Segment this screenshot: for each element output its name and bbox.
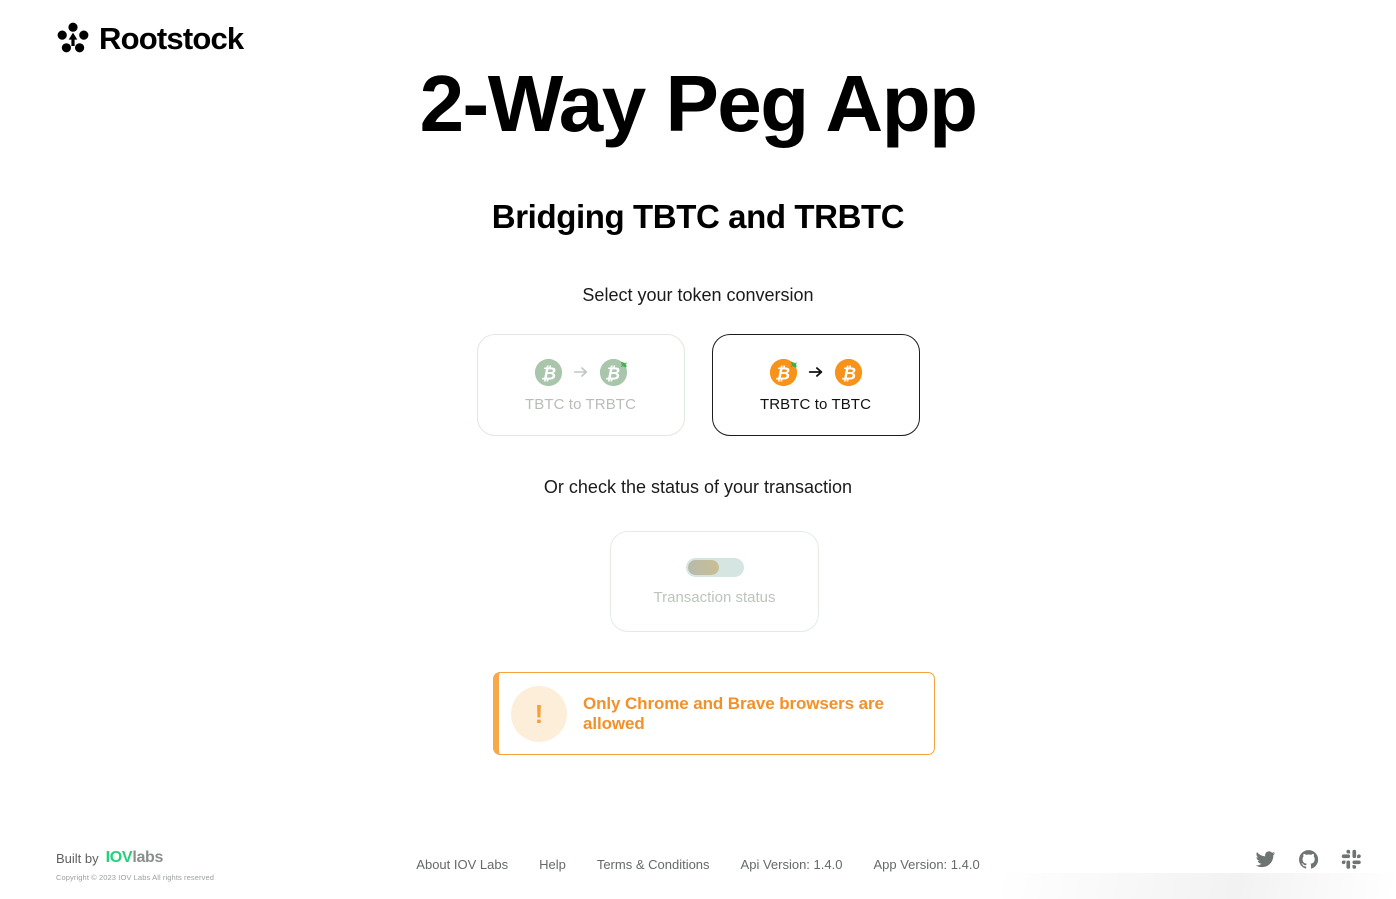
- footer-social-links: [1255, 849, 1362, 870]
- conversion-option-label: TBTC to TRBTC: [525, 396, 636, 413]
- footer-link-help[interactable]: Help: [539, 857, 566, 872]
- svg-text:₿: ₿: [540, 363, 555, 383]
- conversion-option-trbtc-to-tbtc[interactable]: ₿ ₿ TRBTC to TBTC: [712, 334, 920, 436]
- footer-api-version: Api Version: 1.4.0: [741, 857, 843, 872]
- rootstock-flower-icon: [56, 22, 90, 54]
- footer-link-about-iov-labs[interactable]: About IOV Labs: [416, 857, 508, 872]
- rootstock-bitcoin-coin-icon: ₿: [599, 358, 628, 387]
- transaction-status-card[interactable]: Transaction status: [610, 531, 819, 632]
- github-icon[interactable]: [1298, 849, 1319, 870]
- page-subtitle: Bridging TBTC and TRBTC: [0, 198, 1396, 236]
- arrow-right-icon: [572, 363, 590, 381]
- transaction-status-label: Transaction status: [654, 589, 776, 606]
- slack-icon[interactable]: [1341, 849, 1362, 870]
- page-title: 2-Way Peg App: [0, 62, 1396, 146]
- exclamation-glyph: !: [535, 701, 544, 727]
- arrow-right-icon: [807, 363, 825, 381]
- brand-logo[interactable]: Rootstock: [56, 22, 243, 54]
- svg-text:₿: ₿: [775, 363, 790, 383]
- conversion-icon-row: ₿ ₿: [534, 358, 628, 387]
- twitter-icon[interactable]: [1255, 849, 1276, 870]
- svg-text:₿: ₿: [840, 363, 855, 383]
- footer-app-version: App Version: 1.4.0: [873, 857, 979, 872]
- svg-text:₿: ₿: [605, 363, 620, 383]
- footer-links: About IOV Labs Help Terms & Conditions A…: [0, 857, 1396, 872]
- rootstock-bitcoin-coin-icon: ₿: [769, 358, 798, 387]
- conversion-option-tbtc-to-trbtc[interactable]: ₿ ₿ TBTC to TRBTC: [477, 334, 685, 436]
- copyright-text: Copyright © 2023 IOV Labs All rights res…: [56, 873, 214, 882]
- brand-logo-text: Rootstock: [99, 23, 243, 54]
- conversion-section-label: Select your token conversion: [0, 285, 1396, 306]
- footer: Built by IOVlabs Copyright © 2023 IOV La…: [0, 837, 1396, 899]
- footer-link-terms-and-conditions[interactable]: Terms & Conditions: [597, 857, 710, 872]
- conversion-option-label: TRBTC to TBTC: [760, 396, 871, 413]
- browser-warning-message: Only Chrome and Brave browsers are allow…: [583, 694, 934, 734]
- conversion-options: ₿ ₿ TBTC to TRBTC: [0, 334, 1396, 436]
- status-pill-icon: [686, 558, 744, 577]
- bitcoin-coin-icon: ₿: [834, 358, 863, 387]
- browser-warning-banner: ! Only Chrome and Brave browsers are all…: [493, 672, 935, 755]
- app-root: Rootstock 2-Way Peg App Bridging TBTC an…: [0, 0, 1396, 899]
- exclamation-icon: !: [511, 686, 567, 742]
- status-section-label: Or check the status of your transaction: [0, 477, 1396, 498]
- conversion-icon-row: ₿ ₿: [769, 358, 863, 387]
- bitcoin-coin-icon: ₿: [534, 358, 563, 387]
